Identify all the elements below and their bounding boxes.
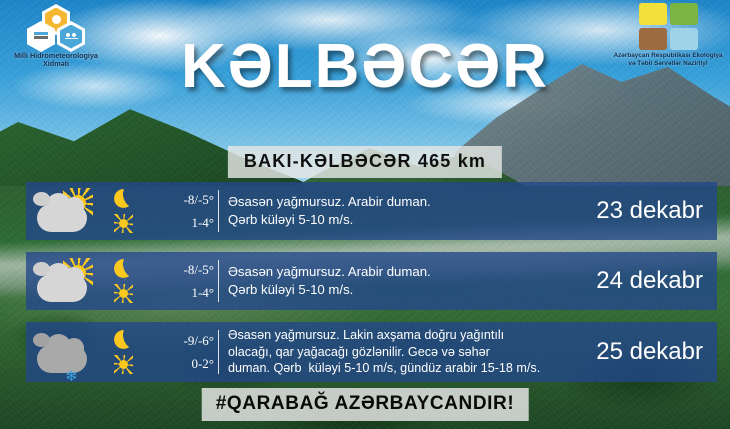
- page-title: KƏLBƏCƏR: [0, 36, 730, 98]
- sun-icon: [114, 214, 133, 233]
- weather-icon-cell: [26, 258, 106, 304]
- forecast-date: 23 dekabr: [596, 197, 717, 225]
- temperature-cell: -8/-5° 1-4°: [106, 259, 218, 303]
- moon-icon: [114, 330, 133, 349]
- weather-poster: Milli Hidrometeorologiya Xidməti Azərbay…: [0, 0, 730, 429]
- forecast-description-cell: Əsasən yağmursuz. Lakin axşama doğru yağ…: [219, 327, 596, 376]
- weather-icon-cell: [26, 188, 106, 234]
- sun-behind-cloud-icon: [35, 188, 97, 234]
- sun-icon: [114, 284, 133, 303]
- weather-icon-cell: ❄: [26, 329, 106, 375]
- forecast-description-cell: Əsasən yağmursuz. Arabir duman. Qərb kül…: [219, 263, 596, 299]
- hashtag-banner: #QARABAĞ AZƏRBAYCANDIR!: [202, 388, 529, 421]
- cloud-with-snow-icon: ❄: [35, 329, 97, 375]
- forecast-row: -8/-5° 1-4° Əsasən yağmursuz. Arabir dum…: [26, 182, 717, 240]
- sun-icon: [114, 355, 133, 374]
- moon-icon: [114, 259, 133, 278]
- forecast-row: -8/-5° 1-4° Əsasən yağmursuz. Arabir dum…: [26, 252, 717, 310]
- day-temperature: 0-2°: [191, 356, 214, 372]
- sun-behind-cloud-icon: [35, 258, 97, 304]
- forecast-description: Əsasən yağmursuz. Arabir duman. Qərb kül…: [228, 193, 588, 229]
- forecast-date: 25 dekabr: [596, 338, 717, 366]
- snowflake-icon: ❄: [65, 369, 78, 384]
- forecast-description: Əsasən yağmursuz. Lakin axşama doğru yağ…: [228, 327, 588, 376]
- temperature-cell: -9/-6° 0-2°: [106, 330, 218, 374]
- night-temperature: -8/-5°: [184, 192, 214, 208]
- moon-icon: [114, 189, 133, 208]
- night-temperature: -9/-6°: [184, 333, 214, 349]
- forecast-date: 24 dekabr: [596, 267, 717, 295]
- temperature-cell: -8/-5° 1-4°: [106, 189, 218, 233]
- forecast-row: ❄ -9/-6° 0-2° Əsasən yağmursuz. Lakin ax…: [26, 322, 717, 382]
- sun-square-icon: [639, 3, 667, 25]
- day-temperature: 1-4°: [191, 215, 214, 231]
- night-temperature: -8/-5°: [184, 262, 214, 278]
- forecast-description-cell: Əsasən yağmursuz. Arabir duman. Qərb kül…: [219, 193, 596, 229]
- route-distance-banner: BAKI-KƏLBƏCƏR 465 km: [228, 146, 502, 178]
- leaf-square-icon: [670, 3, 698, 25]
- day-temperature: 1-4°: [191, 285, 214, 301]
- forecast-description: Əsasən yağmursuz. Arabir duman. Qərb kül…: [228, 263, 588, 299]
